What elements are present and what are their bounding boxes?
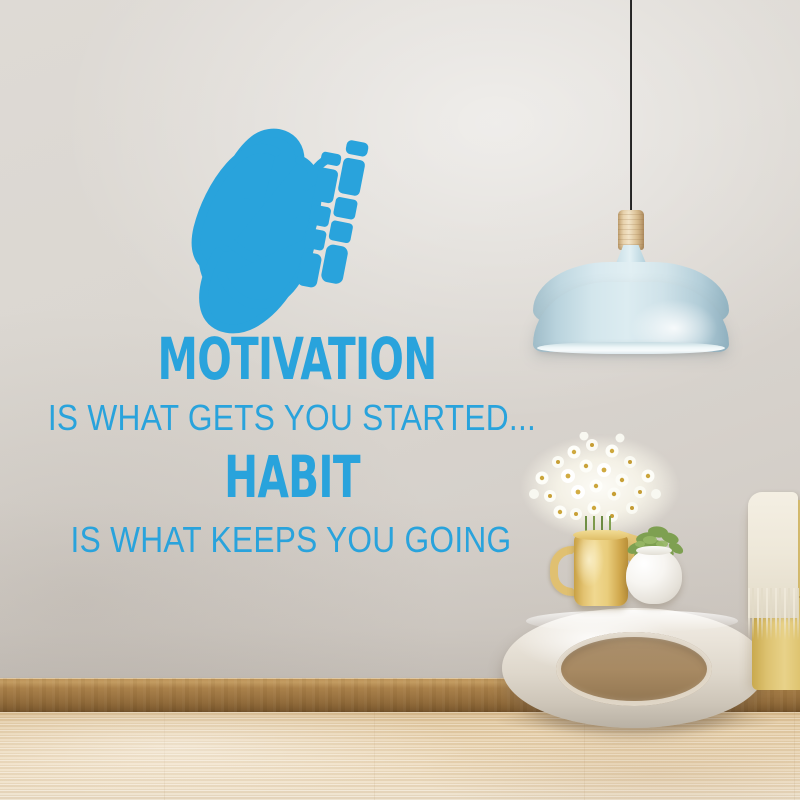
throw-fringe xyxy=(748,588,800,640)
table-top-highlight xyxy=(526,610,738,632)
quote-line-motivation: MOTIVATION xyxy=(99,330,495,388)
quote-line-started: IS WHAT GETS YOU STARTED... xyxy=(39,400,546,436)
lamp-wood-neck xyxy=(618,210,644,250)
quote-line-habit: HABIT xyxy=(90,448,493,506)
lamp-cord-icon xyxy=(630,0,632,214)
quote-line-going: IS WHAT KEEPS YOU GOING xyxy=(37,522,546,558)
wall-decal-quote: MOTIVATION IS WHAT GETS YOU STARTED... H… xyxy=(0,330,580,558)
lamp-neck-grain xyxy=(618,210,644,250)
white-planter xyxy=(626,548,682,604)
pendant-lamp xyxy=(0,0,800,370)
white-planter-rim xyxy=(636,546,672,555)
room-scene: MOTIVATION IS WHAT GETS YOU STARTED... H… xyxy=(0,0,800,800)
side-table xyxy=(496,596,776,738)
table-cutout-lip xyxy=(556,632,712,706)
